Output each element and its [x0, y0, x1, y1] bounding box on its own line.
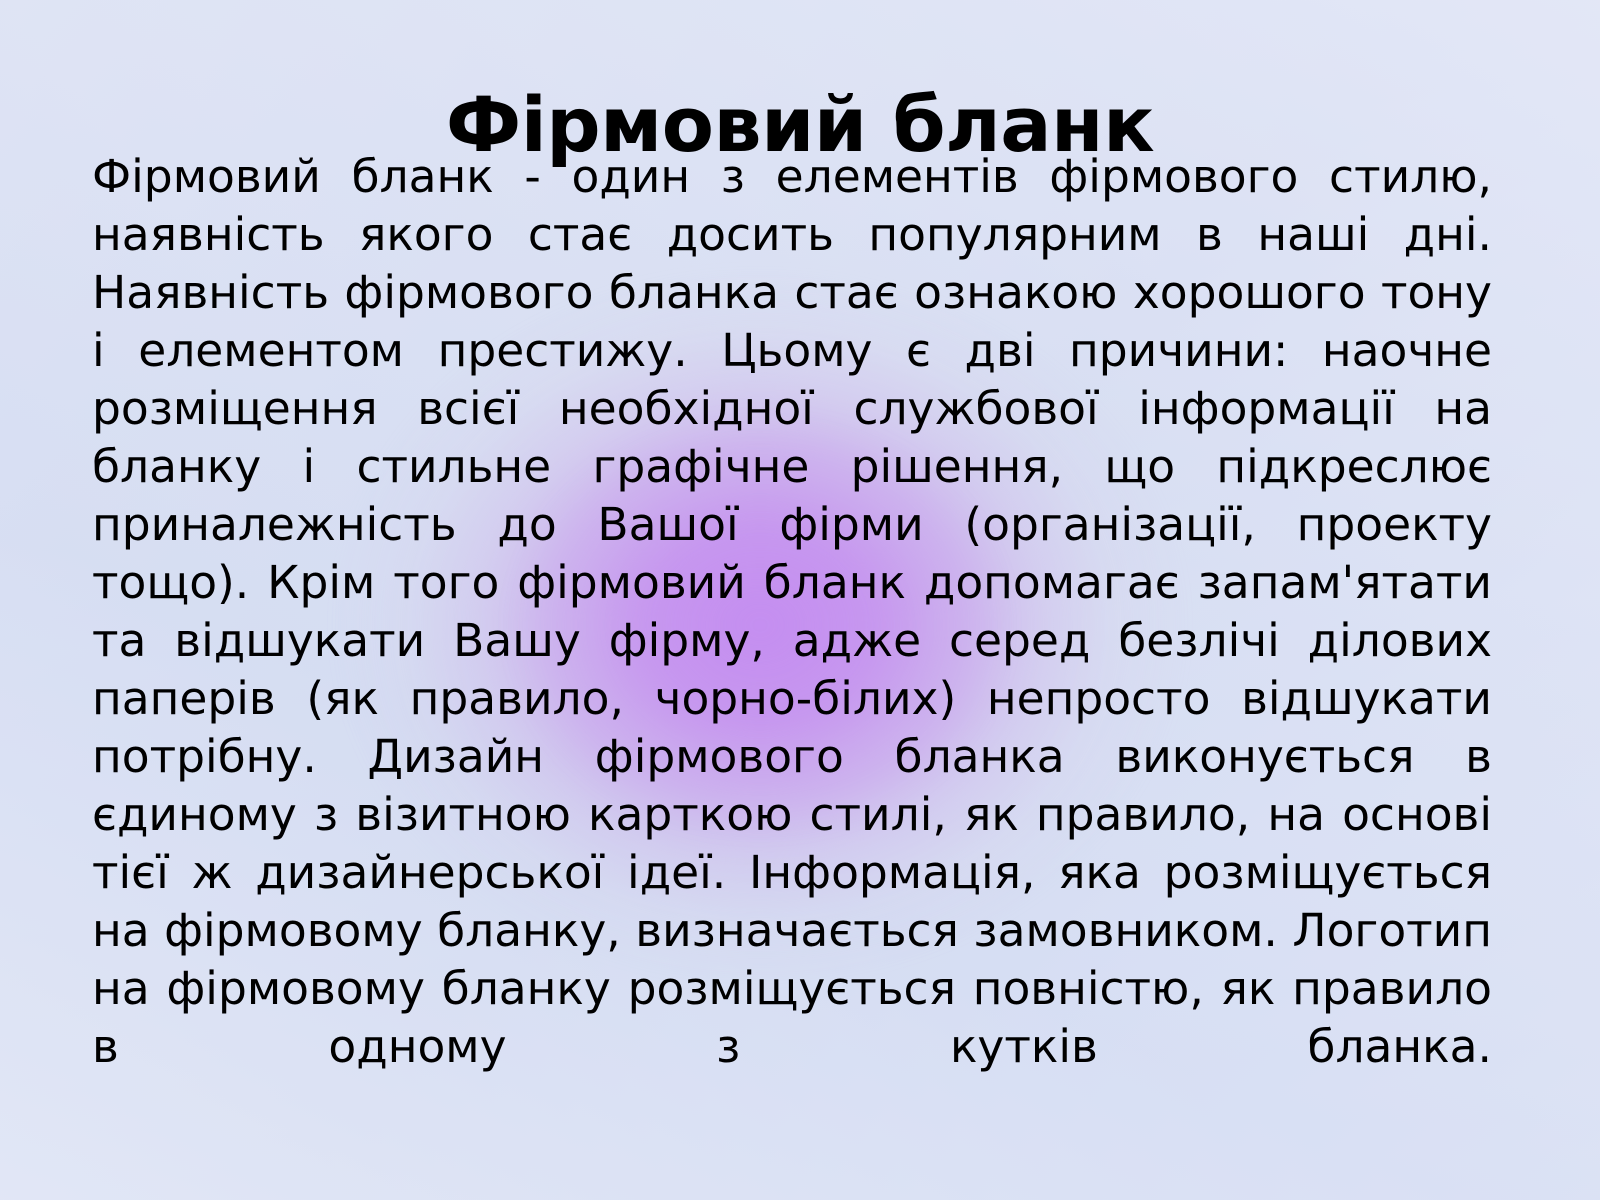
slide-content: Фірмовий бланк Фірмовий бланк - один з е… — [0, 0, 1600, 1200]
presentation-slide: Фірмовий бланк Фірмовий бланк - один з е… — [0, 0, 1600, 1200]
slide-body-paragraph: Фірмовий бланк - один з елементів фірмов… — [92, 148, 1492, 1134]
